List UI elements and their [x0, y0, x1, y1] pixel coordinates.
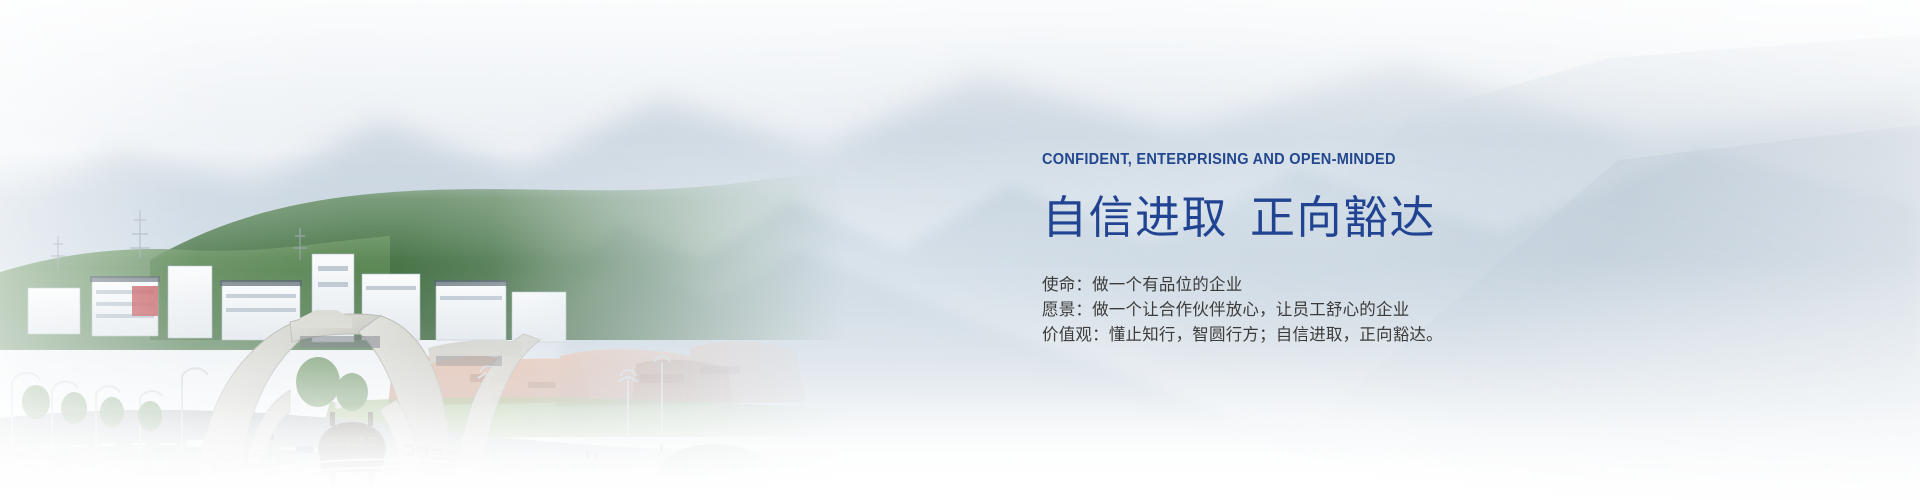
headline-phrase-1: 自信进取	[1042, 192, 1228, 243]
culture-line-values: 价值观：懂止知行，智圆行方；自信进取，正向豁达。	[1042, 323, 1902, 348]
culture-line-mission: 使命：做一个有品位的企业	[1042, 273, 1902, 298]
culture-line-vision: 愿景：做一个让合作伙伴放心，让员工舒心的企业	[1042, 298, 1902, 323]
city-scene-photo	[0, 150, 880, 500]
culture-banner: CONFIDENT, ENTERPRISING AND OPEN-MINDED …	[0, 0, 1920, 500]
headline-phrase-2: 正向豁达	[1250, 192, 1436, 243]
culture-statement-list: 使命：做一个有品位的企业 愿景：做一个让合作伙伴放心，让员工舒心的企业 价值观：…	[1042, 273, 1902, 348]
banner-eyebrow-tagline: CONFIDENT, ENTERPRISING AND OPEN-MINDED	[1042, 152, 1850, 168]
banner-text-block: CONFIDENT, ENTERPRISING AND OPEN-MINDED …	[1042, 0, 1902, 500]
banner-headline: 自信进取正向豁达	[1042, 193, 1902, 243]
